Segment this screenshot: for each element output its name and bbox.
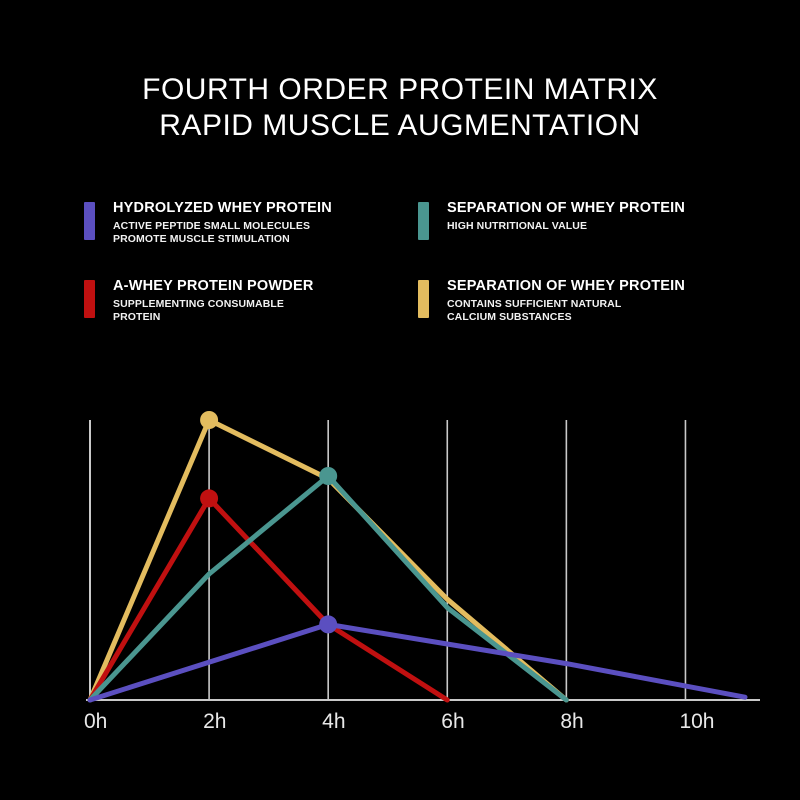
x-tick-label-6h: 6h xyxy=(441,710,464,733)
legend-item-separation-whey-nutrition: SEPARATION OF WHEY PROTEIN HIGH NUTRITIO… xyxy=(418,200,724,278)
legend-sub-2-line-1: SUPPLEMENTING CONSUMABLE xyxy=(113,298,314,311)
legend-sub-3-line-2: CALCIUM SUBSTANCES xyxy=(447,311,685,324)
legend-sub-0: ACTIVE PEPTIDE SMALL MOLECULES PROMOTE M… xyxy=(113,220,332,245)
chart-tick-labels: 0h2h4h6h8h10h xyxy=(84,710,715,733)
x-tick-label-4h: 4h xyxy=(322,710,345,733)
legend-sub-3-line-1: CONTAINS SUFFICIENT NATURAL xyxy=(447,298,685,311)
title-line-2: RAPID MUSCLE AUGMENTATION xyxy=(0,108,800,144)
chart-gridlines xyxy=(90,420,685,700)
x-tick-label-10h: 10h xyxy=(679,710,714,733)
legend: HYDROLYZED WHEY PROTEIN ACTIVE PEPTIDE S… xyxy=(84,200,724,323)
page-title: FOURTH ORDER PROTEIN MATRIX RAPID MUSCLE… xyxy=(0,72,800,144)
poster-root: FOURTH ORDER PROTEIN MATRIX RAPID MUSCLE… xyxy=(0,0,800,800)
legend-title-0: HYDROLYZED WHEY PROTEIN xyxy=(113,200,332,217)
legend-swatch-gold xyxy=(418,280,429,318)
legend-swatch-teal xyxy=(418,202,429,240)
legend-swatch-red xyxy=(84,280,95,318)
legend-text-3: SEPARATION OF WHEY PROTEIN CONTAINS SUFF… xyxy=(447,278,685,323)
legend-sub-0-line-1: ACTIVE PEPTIDE SMALL MOLECULES xyxy=(113,220,332,233)
title-line-1: FOURTH ORDER PROTEIN MATRIX xyxy=(0,72,800,108)
legend-item-a-whey-protein-powder: A-WHEY PROTEIN POWDER SUPPLEMENTING CONS… xyxy=(84,278,418,323)
legend-sub-1-line-1: HIGH NUTRITIONAL VALUE xyxy=(447,220,685,233)
data-point-marker-1 xyxy=(200,489,218,507)
chart-line-3 xyxy=(90,624,745,700)
legend-text-1: SEPARATION OF WHEY PROTEIN HIGH NUTRITIO… xyxy=(447,200,685,233)
x-tick-label-8h: 8h xyxy=(560,710,583,733)
data-point-marker-2 xyxy=(319,467,337,485)
legend-text-0: HYDROLYZED WHEY PROTEIN ACTIVE PEPTIDE S… xyxy=(113,200,332,245)
chart-svg: 0h2h4h6h8h10h xyxy=(0,400,800,760)
data-point-marker-0 xyxy=(200,411,218,429)
x-tick-label-0h: 0h xyxy=(84,710,107,733)
legend-title-2: A-WHEY PROTEIN POWDER xyxy=(113,278,314,295)
legend-item-separation-whey-calcium: SEPARATION OF WHEY PROTEIN CONTAINS SUFF… xyxy=(418,278,724,323)
legend-sub-2: SUPPLEMENTING CONSUMABLE PROTEIN xyxy=(113,298,314,323)
legend-title-3: SEPARATION OF WHEY PROTEIN xyxy=(447,278,685,295)
chart-line-1 xyxy=(90,498,447,700)
x-tick-label-2h: 2h xyxy=(203,710,226,733)
data-point-marker-3 xyxy=(319,615,337,633)
legend-item-hydrolyzed-whey-protein: HYDROLYZED WHEY PROTEIN ACTIVE PEPTIDE S… xyxy=(84,200,418,278)
chart-series-group xyxy=(90,420,745,700)
legend-text-2: A-WHEY PROTEIN POWDER SUPPLEMENTING CONS… xyxy=(113,278,314,323)
legend-sub-2-line-2: PROTEIN xyxy=(113,311,314,324)
line-chart: 0h2h4h6h8h10h xyxy=(0,400,800,760)
legend-sub-0-line-2: PROMOTE MUSCLE STIMULATION xyxy=(113,233,332,246)
legend-title-1: SEPARATION OF WHEY PROTEIN xyxy=(447,200,685,217)
legend-sub-1: HIGH NUTRITIONAL VALUE xyxy=(447,220,685,233)
legend-sub-3: CONTAINS SUFFICIENT NATURAL CALCIUM SUBS… xyxy=(447,298,685,323)
legend-swatch-purple xyxy=(84,202,95,240)
